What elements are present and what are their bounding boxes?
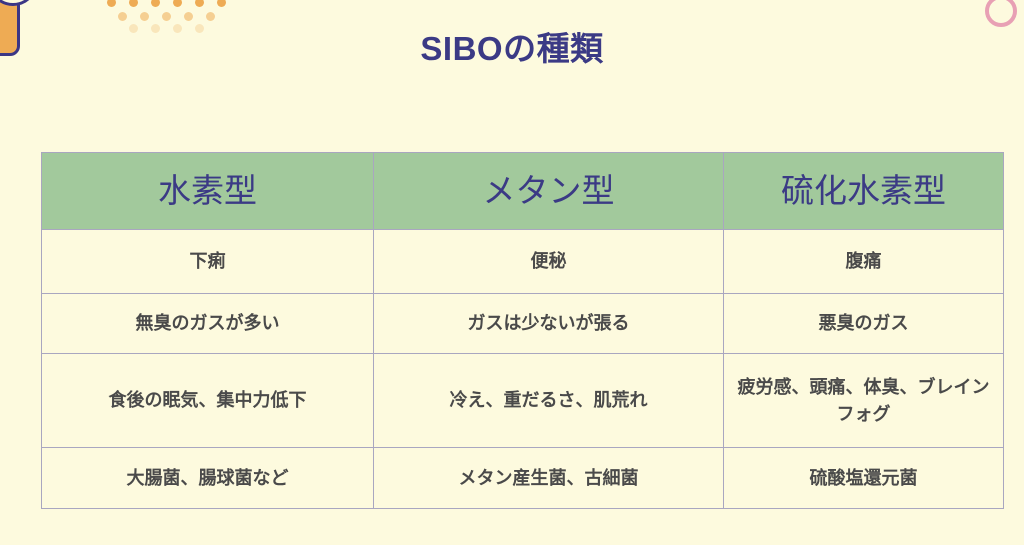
decorative-dot [217,0,226,7]
table-row: 無臭のガスが多い ガスは少ないが張る 悪臭のガス [42,294,1004,354]
page-title: SIBOの種類 [0,22,1024,70]
decorative-dot [195,0,204,7]
table-cell: 硫酸塩還元菌 [724,448,1004,509]
decorative-dot [184,12,193,21]
decorative-dot [151,0,160,7]
table-cell: メタン産生菌、古細菌 [374,448,724,509]
table-row: 下痢 便秘 腹痛 [42,230,1004,294]
table-cell: 食後の眠気、集中力低下 [42,354,374,448]
decorative-dot [140,12,149,21]
decorative-dot [118,12,127,21]
table-header: 水素型 メタン型 硫化水素型 [42,153,1004,230]
table-cell: 便秘 [374,230,724,294]
table-cell: 無臭のガスが多い [42,294,374,354]
table-header-row: 水素型 メタン型 硫化水素型 [42,153,1004,230]
sibo-types-table-container: 水素型 メタン型 硫化水素型 下痢 便秘 腹痛 無臭のガスが多い ガスは少ないが… [41,152,1003,509]
decorative-dot [129,0,138,7]
table-body: 下痢 便秘 腹痛 無臭のガスが多い ガスは少ないが張る 悪臭のガス 食後の眠気、… [42,230,1004,509]
decorative-dot [206,12,215,21]
decorative-dot [173,0,182,7]
table-cell: 腹痛 [724,230,1004,294]
table-header-cell-methane: メタン型 [374,153,724,230]
decorative-dot [107,0,116,7]
table-cell: ガスは少ないが張る [374,294,724,354]
table-header-cell-hydrogen-sulfide: 硫化水素型 [724,153,1004,230]
table-cell: 大腸菌、腸球菌など [42,448,374,509]
sibo-types-table: 水素型 メタン型 硫化水素型 下痢 便秘 腹痛 無臭のガスが多い ガスは少ないが… [41,152,1004,509]
decorative-dot [162,12,171,21]
cheese-bite [0,0,38,6]
table-header-cell-hydrogen: 水素型 [42,153,374,230]
table-cell: 疲労感、頭痛、体臭、ブレインフォグ [724,354,1004,448]
table-row: 大腸菌、腸球菌など メタン産生菌、古細菌 硫酸塩還元菌 [42,448,1004,509]
table-cell: 下痢 [42,230,374,294]
table-cell: 悪臭のガス [724,294,1004,354]
table-row: 食後の眠気、集中力低下 冷え、重だるさ、肌荒れ 疲労感、頭痛、体臭、ブレインフォ… [42,354,1004,448]
table-cell: 冷え、重だるさ、肌荒れ [374,354,724,448]
